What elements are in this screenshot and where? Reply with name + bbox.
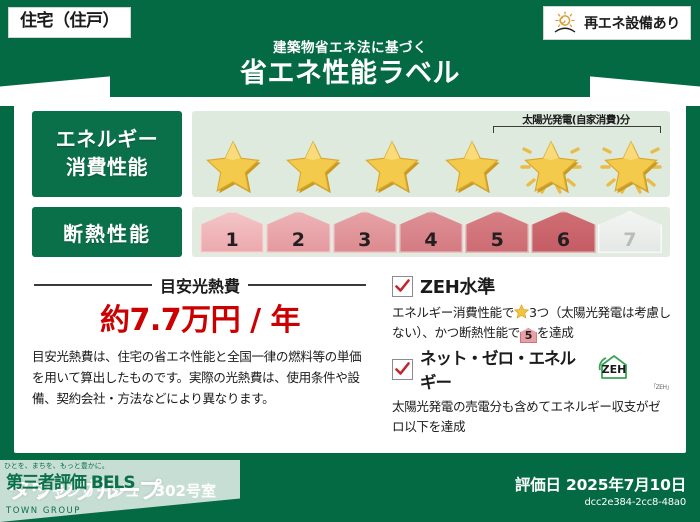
net-zero-energy-block: ネット・ゼロ・エネルギー ZEH 「ZEH」 太陽光発電の売電分も含めてエネルギ… — [392, 345, 672, 437]
cost-heading-label: 目安光熱費 — [160, 273, 240, 297]
insulation-performance-body: 1234567 — [192, 207, 670, 257]
renewable-equipment-badge: 再エネ設備あり — [543, 6, 691, 40]
solar-note-label: 太陽光発電(自家消費)分 — [490, 112, 662, 127]
evaluation-info: 評価日 2025年7月10日 dcc2e384-2cc8-48a0 — [515, 473, 686, 508]
star-icon — [603, 139, 659, 193]
zeh-desc-part-c: を達成 — [537, 325, 574, 340]
insulation-grade-3: 3 — [333, 211, 397, 253]
sun-icon — [552, 11, 578, 35]
zeh-desc-part-a: エネルギー消費性能で — [392, 305, 514, 320]
title-main: 省エネ性能ラベル — [0, 57, 700, 91]
zeh-logo-caption: 「ZEH」 — [650, 382, 672, 393]
cost-rule-left — [34, 284, 152, 286]
label-title: 建築物省エネ法に基づく 省エネ性能ラベル — [0, 40, 700, 91]
svg-text:ZEH: ZEH — [602, 363, 627, 376]
evaluation-date: 評価日 2025年7月10日 — [515, 473, 686, 495]
star-icon — [285, 139, 341, 193]
insulation-performance-caption: 断熱性能 — [32, 207, 182, 257]
utility-cost-heading: 目安光熱費 — [34, 273, 366, 297]
insulation-performance-row: 断熱性能 1234567 — [32, 207, 670, 257]
insulation-grade-1: 1 — [200, 211, 264, 253]
insulation-grade-6: 6 — [531, 211, 595, 253]
zeh-standard-description: エネルギー消費性能で3つ（太陽光発電は考慮しない）、かつ断熱性能で5を達成 — [392, 303, 672, 343]
star-icon — [444, 139, 500, 193]
label-footer: シャンリージュ 302号室 評価日 2025年7月10日 dcc2e384-2c… — [0, 460, 700, 522]
star-5 — [518, 133, 584, 195]
zeh-standard-title: ZEH水準 — [420, 273, 495, 299]
star-icon — [364, 139, 420, 193]
star-6 — [598, 133, 664, 195]
title-subtitle: 建築物省エネ法に基づく — [0, 40, 700, 56]
checkmark-icon — [392, 276, 413, 297]
zeh-standard-header: ZEH水準 — [392, 273, 672, 299]
utility-cost-note: 目安光熱費は、住宅の省エネ性能と全国一律の燃料等の単価を用いて算出したものです。… — [32, 347, 368, 409]
net-zero-energy-header: ネット・ゼロ・エネルギー ZEH 「ZEH」 — [392, 345, 672, 393]
renewable-equipment-label: 再エネ設備あり — [584, 13, 680, 33]
zeh-house-logo-icon: ZEH — [596, 354, 642, 384]
insulation-grade-4: 4 — [399, 211, 463, 253]
energy-performance-caption: エネルギー 消費性能 — [32, 111, 182, 197]
star-3 — [359, 133, 425, 195]
star-1 — [200, 133, 266, 195]
cost-rule-right — [248, 284, 366, 286]
inline-grade-badge: 5 — [520, 328, 537, 343]
insulation-grade-5: 5 — [465, 211, 529, 253]
watermark-group-en: TOWN GROUP — [6, 506, 81, 516]
insulation-grade-scale: 1234567 — [200, 211, 662, 253]
insulation-grade-2: 2 — [266, 211, 330, 253]
utility-cost-value: 約7.7万円 / 年 — [34, 295, 366, 339]
checkmark-icon — [392, 359, 413, 380]
star-2 — [280, 133, 346, 195]
net-zero-energy-title: ネット・ゼロ・エネルギー — [420, 345, 589, 393]
energy-caption-line2: 消費性能 — [66, 154, 148, 182]
main-panel: エネルギー 消費性能 太陽光発電(自家消費)分 断熱性能 1234567 目安光… — [14, 97, 686, 453]
insulation-grade-7: 7 — [598, 211, 662, 253]
star-icon — [205, 139, 261, 193]
net-zero-energy-description: 太陽光発電の売電分も含めてエネルギー収支がゼロ以下を達成 — [392, 397, 672, 437]
watermark-tagline: ひとを、まちを、もっと豊かに。 — [4, 461, 109, 471]
house-type-badge: 住宅（住戸） — [8, 7, 131, 38]
zeh-standard-block: ZEH水準 エネルギー消費性能で3つ（太陽光発電は考慮しない）、かつ断熱性能で5… — [392, 273, 672, 343]
energy-performance-body: 太陽光発電(自家消費)分 — [192, 111, 670, 197]
energy-performance-label: 住宅（住戸） 再エネ設備あり 建築物省エネ法に基づく 省エネ性 — [0, 0, 700, 522]
energy-caption-line1: エネルギー — [56, 126, 159, 154]
inline-star-icon — [514, 304, 529, 319]
star-4 — [439, 133, 505, 195]
energy-performance-row: エネルギー 消費性能 太陽光発電(自家消費)分 — [32, 111, 670, 197]
evaluation-code: dcc2e384-2cc8-48a0 — [515, 497, 686, 508]
energy-star-rating — [200, 133, 664, 195]
star-icon — [523, 139, 579, 193]
solar-bracket — [493, 126, 661, 133]
property-name: シャンリージュ 302号室 — [36, 480, 216, 501]
